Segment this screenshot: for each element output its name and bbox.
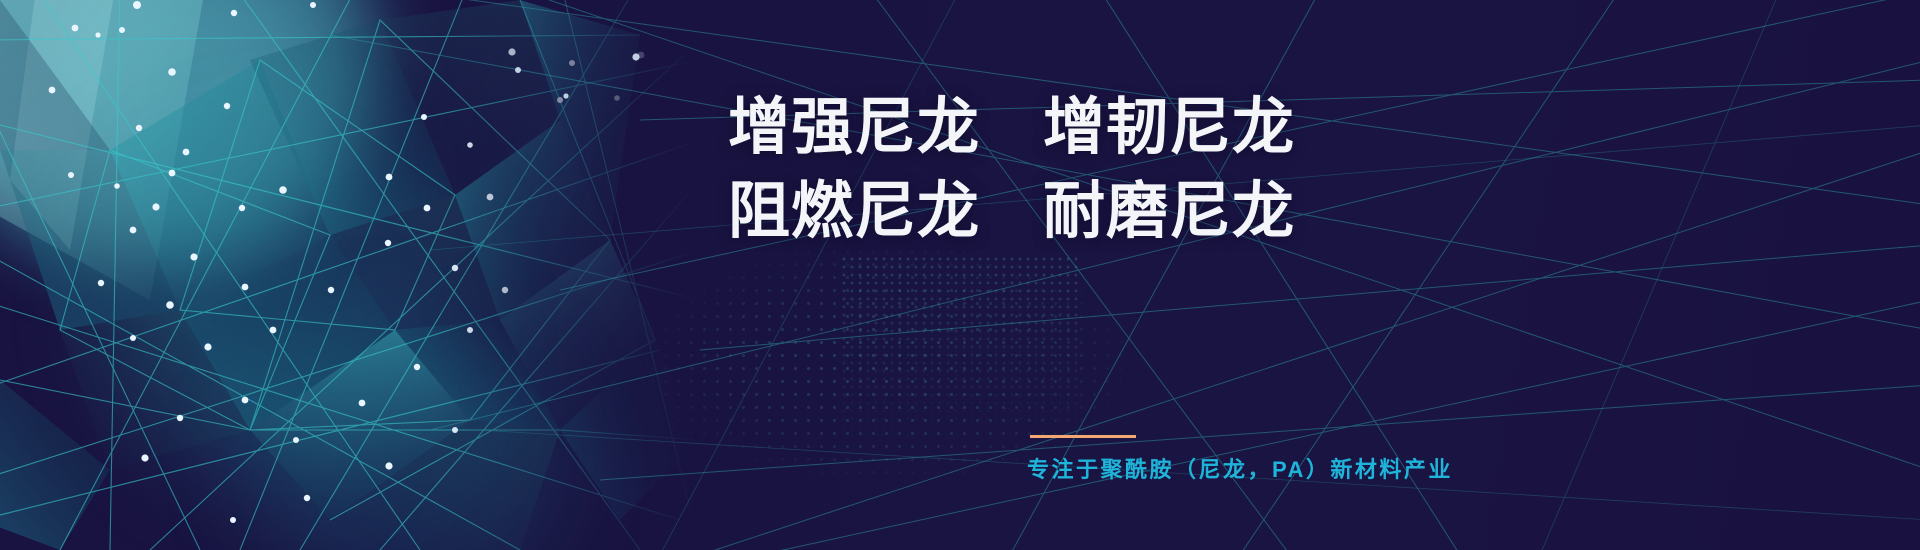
- hero-banner: 增强尼龙 增韧尼龙 阻燃尼龙 耐磨尼龙 专注于聚酰胺（尼龙，PA）新材料产业: [0, 0, 1920, 550]
- orange-divider-rule: [1030, 435, 1136, 438]
- headline-block: 增强尼龙 增韧尼龙 阻燃尼龙 耐磨尼龙: [728, 86, 1628, 254]
- background-network-lines: [0, 0, 1920, 550]
- headline-line-1: 增强尼龙 增韧尼龙: [728, 86, 1628, 170]
- subtitle-text: 专注于聚酰胺（尼龙，PA）新材料产业: [1027, 452, 1453, 484]
- headline-line-2: 阻燃尼龙 耐磨尼龙: [728, 170, 1628, 254]
